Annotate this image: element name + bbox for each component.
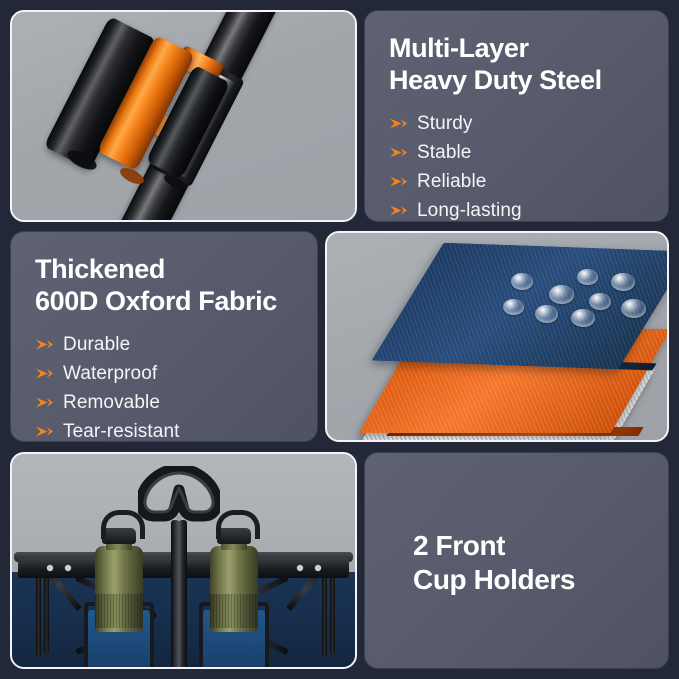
water-droplet-icon — [571, 309, 595, 327]
fabric-image-panel — [325, 231, 669, 442]
arrow-right-icon — [389, 117, 408, 130]
list-item: Reliable — [389, 169, 650, 194]
list-item: Removable — [35, 390, 299, 415]
list-item-label: Waterproof — [63, 364, 157, 383]
water-droplet-icon — [511, 273, 533, 290]
steel-text-panel: Multi-Layer Heavy Duty Steel Sturdy Stab… — [364, 10, 669, 222]
arrow-right-icon — [389, 175, 408, 188]
list-item-label: Long-lasting — [417, 201, 522, 220]
fabric-text-panel: Thickened 600D Oxford Fabric Durable Wat… — [10, 231, 318, 442]
arrow-right-icon — [35, 396, 54, 409]
steel-heading: Multi-Layer Heavy Duty Steel — [389, 33, 650, 97]
list-item-label: Reliable — [417, 172, 486, 191]
exploded-fabric-layers-icon — [327, 233, 667, 440]
arrow-right-icon — [389, 146, 408, 159]
list-item: Long-lasting — [389, 198, 650, 222]
wagon-cup-holders-photo-icon — [12, 454, 355, 667]
infographic-root: Multi-Layer Heavy Duty Steel Sturdy Stab… — [0, 0, 679, 679]
list-item: Stable — [389, 140, 650, 165]
cup-holders-heading: 2 Front Cup Holders — [413, 529, 650, 595]
steel-bullet-list: Sturdy Stable Reliable — [389, 111, 650, 222]
list-item: Tear-resistant — [35, 419, 299, 442]
fabric-bullet-list: Durable Waterproof Removable — [35, 332, 299, 442]
fabric-heading: Thickened 600D Oxford Fabric — [35, 254, 299, 318]
water-droplet-icon — [503, 299, 524, 315]
water-droplet-icon — [589, 293, 611, 310]
arrow-right-icon — [389, 204, 408, 217]
arrow-right-icon — [35, 425, 54, 438]
water-droplet-icon — [621, 299, 646, 318]
steel-image-panel — [10, 10, 357, 222]
list-item-label: Stable — [417, 143, 471, 162]
list-item-label: Tear-resistant — [63, 422, 180, 441]
water-droplet-icon — [535, 305, 558, 323]
list-item-label: Durable — [63, 335, 130, 354]
water-droplet-icon — [611, 273, 635, 291]
exploded-steel-tube-layers-icon — [12, 12, 355, 220]
wagon-handle-icon — [138, 466, 220, 528]
list-item-label: Sturdy — [417, 114, 473, 133]
list-item: Durable — [35, 332, 299, 357]
cup-holders-image-panel — [10, 452, 357, 669]
water-droplet-icon — [577, 269, 598, 285]
water-droplet-icon — [549, 285, 574, 304]
list-item: Waterproof — [35, 361, 299, 386]
list-item: Sturdy — [389, 111, 650, 136]
list-item-label: Removable — [63, 393, 160, 412]
arrow-right-icon — [35, 338, 54, 351]
cup-holders-text-panel: 2 Front Cup Holders — [364, 452, 669, 669]
arrow-right-icon — [35, 367, 54, 380]
